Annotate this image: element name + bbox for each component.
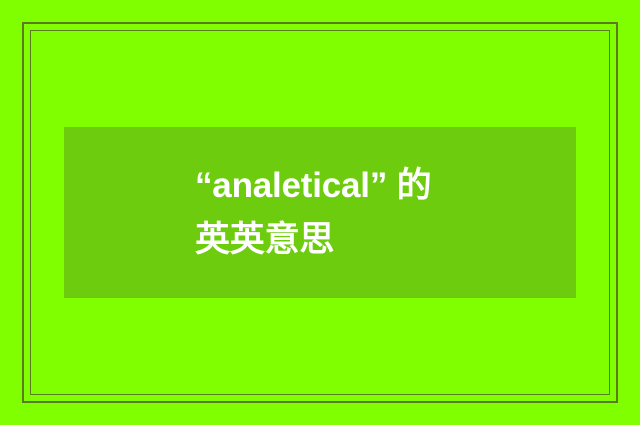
page-title: “analetical” 的英英意思 <box>195 159 445 265</box>
content-card: “analetical” 的英英意思 <box>64 127 576 298</box>
page-canvas: “analetical” 的英英意思 <box>0 0 640 425</box>
